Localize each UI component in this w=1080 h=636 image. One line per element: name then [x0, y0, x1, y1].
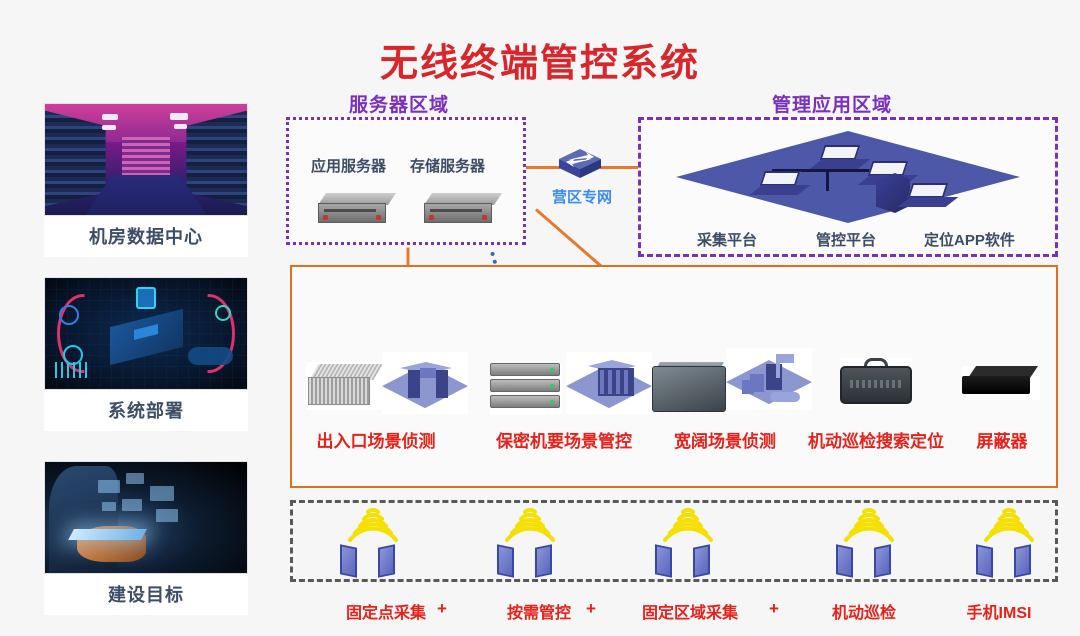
control-platform-label: 管控平台 — [816, 229, 876, 250]
signal-wave-antenna-icon — [326, 506, 418, 578]
diagram-canvas: 无线终端管控系统 机房数据中心 系统 — [0, 0, 1080, 636]
rack-server-icon — [424, 193, 498, 225]
black-box-icon — [962, 366, 1040, 400]
sidebar-item-label: 机房数据中心 — [44, 216, 248, 257]
device-label: 宽阔场景侦测 — [658, 427, 792, 452]
signal-wave-antenna-icon — [962, 506, 1054, 578]
sidebar-item-label: 建设目标 — [44, 574, 248, 615]
link-switch-to-manage — [600, 166, 640, 169]
server-region-title: 服务器区域 — [349, 90, 449, 117]
locating-app-label: 定位APP软件 — [924, 229, 1015, 250]
network-switch-icon[interactable] — [558, 147, 602, 181]
bottom-item-label: 手机IMSI — [952, 599, 1046, 623]
bottom-item-label: 固定区域采集 — [628, 599, 752, 623]
device-label: 出入口场景侦测 — [306, 427, 446, 452]
plus-separator: + — [586, 599, 596, 619]
rugged-case-icon — [652, 366, 726, 412]
portable-briefcase-icon — [840, 358, 912, 406]
bottom-item-label: 按需管控 — [487, 599, 591, 623]
heatsink-device-icon — [306, 362, 384, 410]
manage-region-title: 管理应用区域 — [772, 90, 892, 117]
signal-wave-antenna-icon — [822, 506, 914, 578]
isometric-network-platform-icon — [676, 131, 1020, 223]
plus-separator: + — [437, 599, 447, 619]
page-title: 无线终端管控系统 — [0, 32, 1080, 87]
storage-server-label: 存储服务器 — [410, 155, 485, 176]
bottom-item-label: 固定点采集 — [326, 599, 446, 623]
signal-wave-antenna-icon — [641, 506, 733, 578]
data-center-photo — [44, 103, 248, 216]
bottom-item-label: 机动巡检 — [812, 599, 916, 623]
device-label: 屏蔽器 — [958, 427, 1046, 452]
hud-iot-illustration — [44, 277, 248, 390]
sidebar-item-data-center[interactable]: 机房数据中心 — [44, 103, 248, 257]
app-server-label: 应用服务器 — [311, 155, 386, 176]
device-label: 保密机要场景管控 — [486, 427, 642, 452]
rack-server-icon — [318, 193, 392, 225]
device-label: 机动巡检搜索定位 — [800, 427, 952, 452]
campus-scene-icon — [726, 348, 812, 410]
hand-tablet-photo — [44, 461, 248, 574]
rack-stack-icon — [490, 363, 562, 415]
link-server-to-switch — [526, 166, 560, 169]
sidebar-item-label: 系统部署 — [44, 390, 248, 431]
collection-platform-label: 采集平台 — [697, 229, 757, 250]
plus-separator: + — [769, 599, 779, 619]
network-label: 营区专网 — [552, 186, 612, 207]
gate-scene-icon — [382, 352, 468, 414]
bank-building-scene-icon — [566, 352, 652, 414]
sidebar-item-system-deployment[interactable]: 系统部署 — [44, 277, 248, 431]
signal-wave-antenna-icon — [483, 506, 575, 578]
sidebar-item-construction-goal[interactable]: 建设目标 — [44, 461, 248, 615]
server-region-box — [286, 117, 526, 245]
